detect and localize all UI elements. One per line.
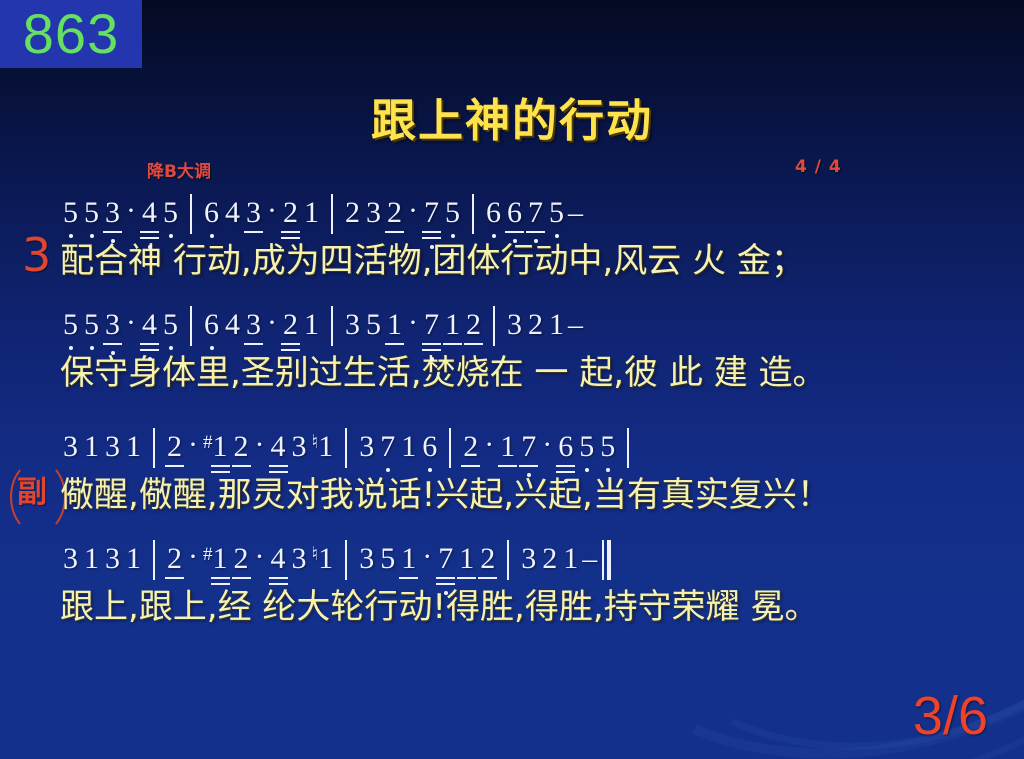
- note-digit: 2: [465, 310, 482, 340]
- note-digit: 7: [423, 310, 440, 340]
- stave-line-1: 553·45643·21232·756675– 配合神 行动,成为四活物,团体行…: [60, 190, 1010, 280]
- note: 2: [342, 198, 363, 240]
- octave-dot-low: [111, 351, 115, 355]
- note: 7: [421, 198, 442, 240]
- note-digit: 5: [162, 310, 179, 340]
- hymn-number: 863: [23, 6, 119, 62]
- lyric-row: 配合神 行动,成为四活物,团体行动中,风云 火 金；: [60, 242, 1010, 280]
- note: 3: [518, 544, 539, 586]
- note-digit: 2: [282, 310, 299, 340]
- octave-dot-low: [428, 468, 432, 472]
- note-digit: 3: [62, 544, 79, 574]
- note-digit: 4: [224, 198, 241, 228]
- note: 7: [435, 544, 456, 586]
- note-digit: 2: [386, 198, 403, 228]
- notation-row: 31312·#12·43♮1351·712321–: [60, 536, 1010, 586]
- note-digit: 1: [317, 432, 334, 462]
- barline: [345, 428, 347, 468]
- note: 2: [477, 544, 498, 586]
- octave-dot-low: [564, 479, 568, 483]
- note: 3: [102, 544, 123, 586]
- note: 3: [243, 310, 264, 352]
- note-digit: 5: [83, 198, 100, 228]
- note-digit: 6: [485, 198, 502, 228]
- note-digit: 7: [423, 198, 440, 228]
- note: 5: [81, 310, 102, 352]
- augmentation-dot: ·: [264, 196, 280, 240]
- note: 1: [81, 544, 102, 586]
- barline: [153, 428, 155, 468]
- note: 2: [164, 544, 185, 586]
- hymn-slide: 863 跟上神的行动 降B大调 4 / 4 3 副 553·45643·2123…: [0, 0, 1024, 759]
- note-digit: 3: [291, 432, 308, 462]
- note-digit: 1: [125, 432, 142, 462]
- note: 3: [60, 544, 81, 586]
- note: 3: [356, 432, 377, 474]
- note: 3: [363, 198, 384, 240]
- note-digit: 5: [578, 432, 595, 462]
- note: 7: [421, 310, 442, 352]
- page-title: 跟上神的行动: [0, 98, 1024, 143]
- note-digit: 2: [344, 198, 361, 228]
- octave-dot-low: [444, 591, 448, 595]
- note: 5: [377, 544, 398, 586]
- notation-row: 553·45643·21232·756675–: [60, 190, 1010, 240]
- note-digit: 4: [270, 432, 287, 462]
- note-digit: 3: [104, 310, 121, 340]
- barline: [507, 540, 509, 580]
- octave-dot-low: [148, 245, 152, 249]
- note: 2: [164, 432, 185, 474]
- note: 2: [231, 544, 252, 586]
- lyric-row: 跟上,跟上,经 纶大轮行动!得胜,得胜,持守荣耀 冕。: [60, 588, 1010, 626]
- note: 2: [384, 198, 405, 240]
- note-digit: 3: [104, 432, 121, 462]
- note: ♮1: [310, 544, 337, 586]
- note: 5: [597, 432, 618, 474]
- note: 5: [60, 310, 81, 352]
- barline: [449, 428, 451, 468]
- note-digit: 2: [282, 198, 299, 228]
- barline: [493, 306, 495, 346]
- note: 3: [289, 432, 310, 474]
- note-digit: 6: [203, 198, 220, 228]
- note: 1: [123, 432, 144, 474]
- note: 1: [123, 544, 144, 586]
- note-digit: 6: [421, 432, 438, 462]
- barline: [331, 194, 333, 234]
- key-signature: 降B大调: [147, 157, 211, 182]
- note-digit: 1: [303, 310, 320, 340]
- note-digit: 1: [400, 544, 417, 574]
- note: 6: [483, 198, 504, 240]
- note: 3: [243, 198, 264, 240]
- augmentation-dot: ·: [419, 542, 435, 586]
- note: 7: [518, 432, 539, 474]
- note: 6: [419, 432, 440, 474]
- octave-dot-low: [90, 234, 94, 238]
- note-digit: 1: [83, 544, 100, 574]
- octave-dot-low: [492, 234, 496, 238]
- note: 2: [280, 310, 301, 352]
- octave-dot-low: [555, 234, 559, 238]
- note: 6: [504, 198, 525, 240]
- note: 4: [139, 198, 160, 240]
- note: 3: [342, 310, 363, 352]
- note-digit: 5: [62, 310, 79, 340]
- note: 4: [268, 432, 289, 474]
- octave-dot-low: [430, 357, 434, 361]
- note-digit: 3: [104, 544, 121, 574]
- note-digit: 4: [141, 198, 158, 228]
- augmentation-dot: ·: [252, 542, 268, 586]
- augmentation-dot: ·: [123, 196, 139, 240]
- note: 7: [525, 198, 546, 240]
- note: 5: [160, 198, 181, 240]
- note: 1: [398, 544, 419, 586]
- note: 4: [139, 310, 160, 352]
- note-digit: 1: [400, 432, 417, 462]
- stave-line-2: 553·45643·21351·712321– 保守身体里,圣别过生活,焚烧在 …: [60, 302, 1010, 392]
- note: 3: [356, 544, 377, 586]
- note-digit: 5: [83, 310, 100, 340]
- hymn-number-badge: 863: [0, 0, 142, 68]
- note: 5: [363, 310, 384, 352]
- note-digit: 1: [444, 310, 461, 340]
- note: 2: [460, 432, 481, 474]
- lyric-row: 儆醒,儆醒,那灵对我说话!兴起,兴起,当有真实复兴！: [60, 476, 1010, 514]
- note-digit: 5: [599, 432, 616, 462]
- note-digit: 3: [245, 198, 262, 228]
- barline: [190, 194, 192, 234]
- stave-line-4: 31312·#12·43♮1351·712321– 跟上,跟上,经 纶大轮行动!…: [60, 536, 1010, 626]
- octave-dot-low: [513, 239, 517, 243]
- note: 1: [81, 432, 102, 474]
- note: 2: [525, 310, 546, 352]
- sustain-dash: –: [581, 544, 598, 586]
- stave-line-3: 31312·#12·43♮137162·17·655 儆醒,儆醒,那灵对我说话!…: [60, 424, 1010, 514]
- octave-dot-low: [527, 473, 531, 477]
- note-digit: 3: [62, 432, 79, 462]
- octave-dot-low: [90, 346, 94, 350]
- note: 5: [546, 198, 567, 240]
- barline: [331, 306, 333, 346]
- octave-dot-low: [69, 346, 73, 350]
- note: 3: [60, 432, 81, 474]
- sustain-dash: –: [567, 310, 584, 352]
- note: 3: [289, 544, 310, 586]
- augmentation-dot: ·: [405, 196, 421, 240]
- augmentation-dot: ·: [252, 430, 268, 474]
- note-digit: 3: [506, 310, 523, 340]
- note: 6: [555, 432, 576, 474]
- note-digit: 1: [303, 198, 320, 228]
- note-digit: 3: [365, 198, 382, 228]
- note: 2: [463, 310, 484, 352]
- note-digit: 1: [83, 432, 100, 462]
- note: 1: [398, 432, 419, 474]
- augmentation-dot: ·: [405, 308, 421, 352]
- note-digit: 3: [344, 310, 361, 340]
- octave-dot-low: [606, 468, 610, 472]
- note-digit: 7: [379, 432, 396, 462]
- octave-dot-low: [169, 346, 173, 350]
- note-digit: 5: [444, 198, 461, 228]
- augmentation-dot: ·: [539, 430, 555, 474]
- note-digit: 1: [548, 310, 565, 340]
- note-digit: 7: [437, 544, 454, 574]
- octave-dot-low: [585, 468, 589, 472]
- note: 1: [442, 310, 463, 352]
- note: 7: [377, 432, 398, 474]
- note-digit: 5: [62, 198, 79, 228]
- note: 3: [504, 310, 525, 352]
- note: 3: [102, 432, 123, 474]
- note-digit: 2: [462, 432, 479, 462]
- octave-dot-low: [386, 468, 390, 472]
- note-digit: 1: [212, 544, 229, 574]
- note-digit: 2: [541, 544, 558, 574]
- note-digit: 1: [125, 544, 142, 574]
- octave-dot-low: [534, 239, 538, 243]
- octave-dot-low: [430, 245, 434, 249]
- note-digit: 5: [365, 310, 382, 340]
- note: #1: [201, 544, 231, 586]
- note: 1: [560, 544, 581, 586]
- barline: [627, 428, 629, 468]
- augmentation-dot: ·: [264, 308, 280, 352]
- note: 5: [442, 198, 463, 240]
- note: 1: [384, 310, 405, 352]
- note-digit: 3: [104, 198, 121, 228]
- octave-dot-low: [451, 234, 455, 238]
- note: 5: [60, 198, 81, 240]
- chorus-marker-label: 副: [17, 475, 47, 510]
- note: 4: [222, 198, 243, 240]
- note: 2: [231, 432, 252, 474]
- note-digit: 1: [458, 544, 475, 574]
- note-digit: 4: [270, 544, 287, 574]
- time-signature: 4 / 4: [795, 157, 842, 177]
- barline: [472, 194, 474, 234]
- augmentation-dot: ·: [185, 542, 201, 586]
- note: 6: [201, 310, 222, 352]
- note-digit: 2: [479, 544, 496, 574]
- notation-row: 31312·#12·43♮137162·17·655: [60, 424, 1010, 474]
- note-digit: 5: [548, 198, 565, 228]
- note: 3: [102, 310, 123, 352]
- note: 2: [280, 198, 301, 240]
- note-digit: 1: [212, 432, 229, 462]
- note: 1: [456, 544, 477, 586]
- note: 4: [268, 544, 289, 586]
- octave-dot-low: [210, 346, 214, 350]
- music-staves: 553·45643·21232·756675– 配合神 行动,成为四活物,团体行…: [60, 190, 1010, 636]
- note-digit: 7: [527, 198, 544, 228]
- note: 6: [201, 198, 222, 240]
- verse-number-marker: 3: [22, 232, 51, 278]
- octave-dot-low: [111, 239, 115, 243]
- note-digit: 3: [245, 310, 262, 340]
- note: 4: [222, 310, 243, 352]
- augmentation-dot: ·: [481, 430, 497, 474]
- note-digit: 6: [557, 432, 574, 462]
- note: ♮1: [310, 432, 337, 474]
- note: 1: [497, 432, 518, 474]
- note-digit: 4: [141, 310, 158, 340]
- sustain-dash: –: [567, 198, 584, 240]
- note-digit: 1: [499, 432, 516, 462]
- note: 5: [576, 432, 597, 474]
- barline: [190, 306, 192, 346]
- note: #1: [201, 432, 231, 474]
- octave-dot-low: [148, 357, 152, 361]
- octave-dot-low: [69, 234, 73, 238]
- note-digit: 5: [162, 198, 179, 228]
- note: 1: [301, 310, 322, 352]
- note-digit: 2: [166, 432, 183, 462]
- augmentation-dot: ·: [185, 430, 201, 474]
- lyric-row: 保守身体里,圣别过生活,焚烧在 一 起,彼 此 建 造。: [60, 354, 1010, 392]
- barline: [153, 540, 155, 580]
- note-digit: 4: [224, 310, 241, 340]
- notation-row: 553·45643·21351·712321–: [60, 302, 1010, 352]
- note-digit: 2: [233, 544, 250, 574]
- note-digit: 6: [506, 198, 523, 228]
- note-digit: 1: [386, 310, 403, 340]
- note: 1: [301, 198, 322, 240]
- note-digit: 3: [520, 544, 537, 574]
- note-digit: 5: [379, 544, 396, 574]
- chorus-marker: 副: [17, 478, 47, 508]
- note-digit: 2: [527, 310, 544, 340]
- octave-dot-low: [210, 234, 214, 238]
- note-digit: 2: [233, 432, 250, 462]
- note: 3: [102, 198, 123, 240]
- note-digit: 1: [562, 544, 579, 574]
- note: 1: [546, 310, 567, 352]
- final-barline: [602, 540, 611, 580]
- note-digit: 7: [520, 432, 537, 462]
- note: 5: [81, 198, 102, 240]
- note-digit: 1: [317, 544, 334, 574]
- note: 5: [160, 310, 181, 352]
- note-digit: 3: [358, 544, 375, 574]
- note-digit: 3: [291, 544, 308, 574]
- note: 2: [539, 544, 560, 586]
- octave-dot-low: [169, 234, 173, 238]
- note-digit: 2: [166, 544, 183, 574]
- page-indicator: 3/6: [913, 689, 988, 743]
- note-digit: 6: [203, 310, 220, 340]
- note-digit: 3: [358, 432, 375, 462]
- augmentation-dot: ·: [123, 308, 139, 352]
- barline: [345, 540, 347, 580]
